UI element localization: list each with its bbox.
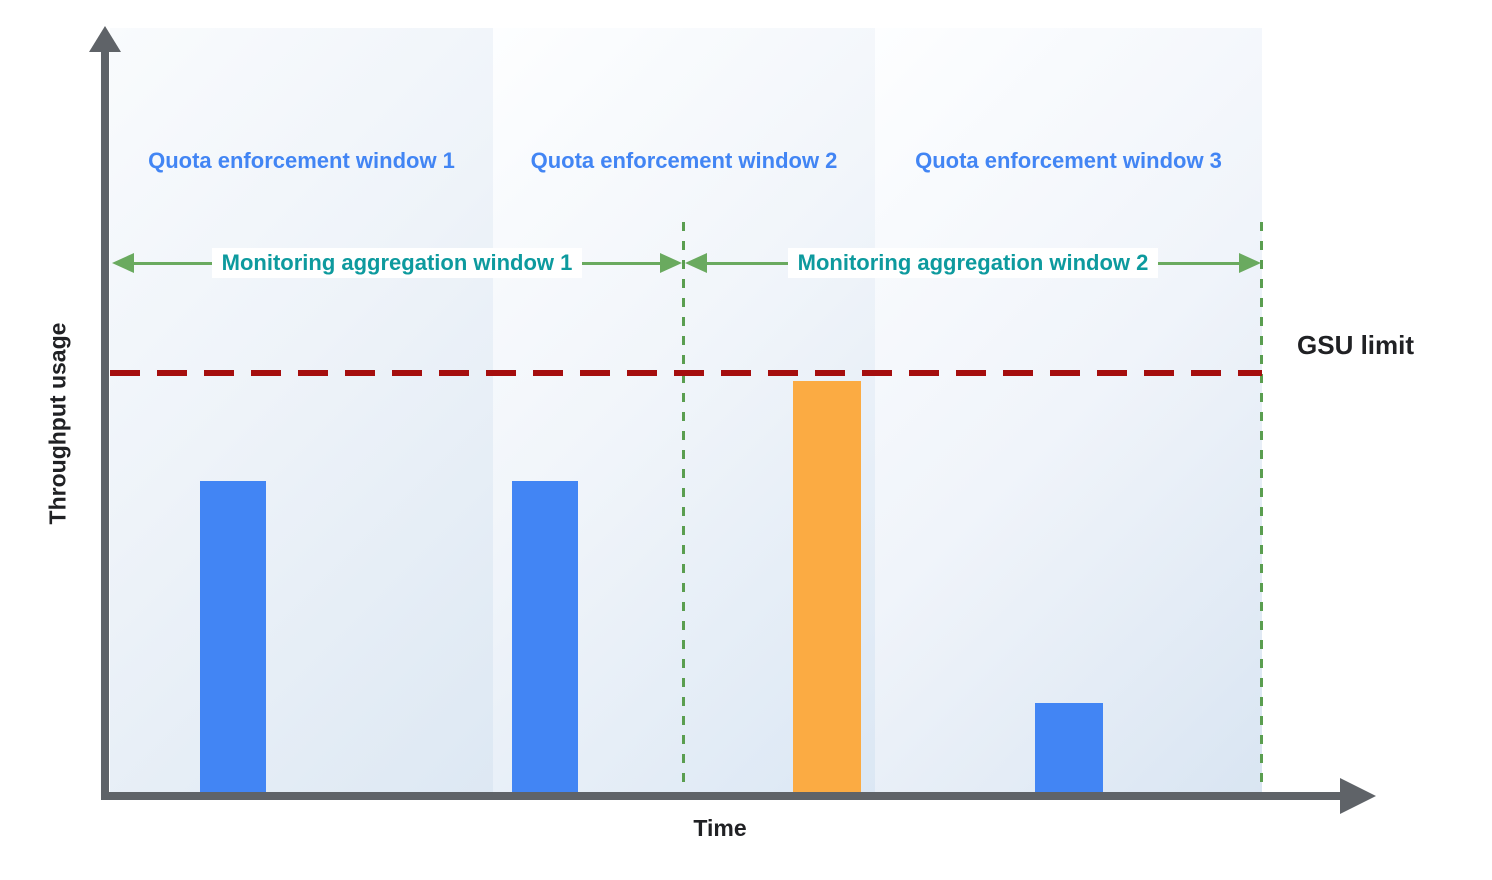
gsu-limit-line	[110, 370, 1262, 376]
diagram-canvas: Quota enforcement window 1 Quota enforce…	[0, 0, 1492, 880]
arrow-left-icon	[685, 253, 707, 273]
y-axis-arrow-icon	[89, 26, 121, 52]
y-axis-title: Throughput usage	[45, 314, 72, 534]
arrow-right-icon	[1239, 253, 1261, 273]
gsu-limit-label: GSU limit	[1297, 330, 1414, 361]
x-axis-title: Time	[640, 815, 800, 842]
arrow-left-icon	[112, 253, 134, 273]
aggregation-line-left-2	[707, 262, 788, 265]
x-axis-arrow-icon	[1340, 778, 1376, 814]
aggregation-boundary-line-1	[682, 222, 685, 795]
quota-window-label-2: Quota enforcement window 2	[493, 148, 875, 174]
bar-1	[200, 481, 266, 795]
aggregation-window-label-2: Monitoring aggregation window 2	[788, 248, 1159, 278]
plot-area: Quota enforcement window 1 Quota enforce…	[110, 28, 1262, 795]
aggregation-boundary-line-2	[1260, 222, 1263, 795]
aggregation-line-right-2	[1158, 262, 1239, 265]
quota-window-label-3: Quota enforcement window 3	[875, 148, 1262, 174]
quota-window-label-1: Quota enforcement window 1	[110, 148, 493, 174]
aggregation-window-label-1: Monitoring aggregation window 1	[212, 248, 583, 278]
aggregation-line-right-1	[582, 262, 660, 265]
y-axis-line	[101, 44, 109, 800]
bar-3-exceeding	[793, 381, 861, 795]
x-axis-line	[101, 792, 1345, 800]
aggregation-window-row-1: Monitoring aggregation window 1	[112, 243, 682, 283]
bar-4	[1035, 703, 1103, 795]
quota-window-band-3	[875, 28, 1262, 795]
bar-2	[512, 481, 578, 795]
aggregation-line-left-1	[134, 262, 212, 265]
aggregation-window-row-2: Monitoring aggregation window 2	[685, 243, 1261, 283]
quota-window-band-1	[110, 28, 493, 795]
arrow-right-icon	[660, 253, 682, 273]
